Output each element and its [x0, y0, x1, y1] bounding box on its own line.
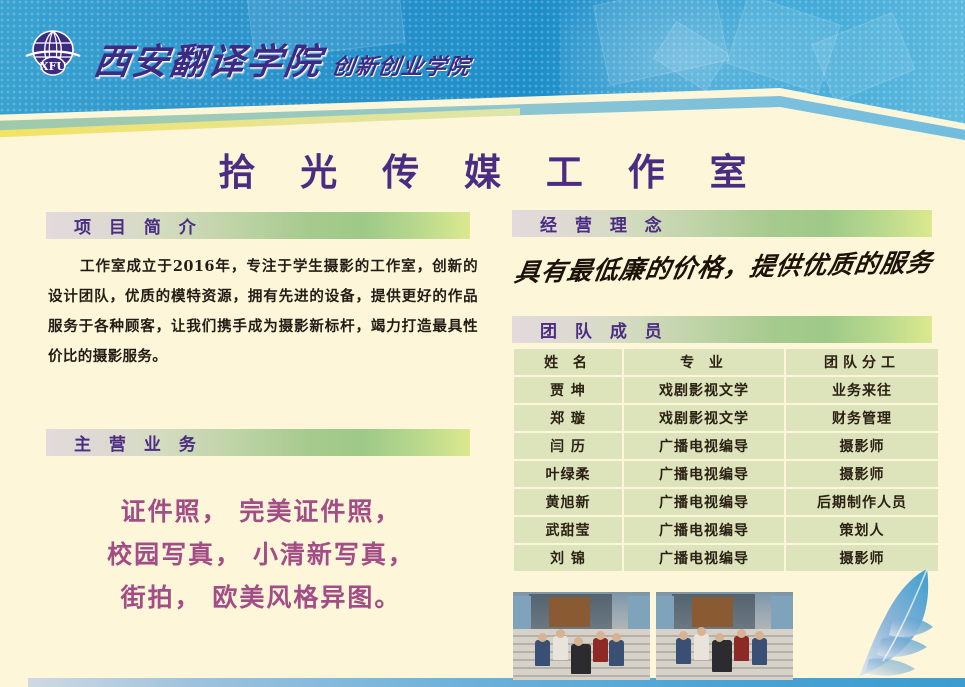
photo-person: [593, 638, 608, 662]
institution-subname: 创新创业学院: [330, 56, 471, 80]
photo-person: [734, 636, 749, 661]
services-list: 证件照， 完美证件照， 校园写真， 小清新写真， 街拍， 欧美风格异图。: [46, 490, 476, 619]
intro-paragraph: 工作室成立于2016年，专注于学生摄影的工作室，创新的设计团队，优质的模特资源，…: [48, 252, 478, 372]
cell-name: 贾 坤: [514, 377, 622, 403]
photo-person: [676, 638, 691, 664]
section-header-intro-label: 项 目 简 介: [46, 213, 202, 238]
photo-person: [712, 640, 732, 672]
service-line: 街拍， 欧美风格异图。: [46, 576, 476, 619]
cell-major: 广播电视编导: [624, 545, 784, 571]
team-photo: [656, 592, 793, 680]
photo-person: [752, 638, 767, 665]
table-header-row: 姓 名 专 业 团队分工: [514, 349, 938, 375]
section-header-idea: 经 营 理 念: [512, 210, 932, 237]
cell-name: 刘 锦: [514, 545, 622, 571]
table-row: 贾 坤 戏剧影视文学 业务来往: [514, 377, 938, 403]
photo-glass: [628, 596, 650, 631]
cell-name: 郑 璇: [514, 405, 622, 431]
table-row: 武甜莹 广播电视编导 策划人: [514, 517, 938, 543]
cell-major: 戏剧影视文学: [624, 405, 784, 431]
cell-major: 广播电视编导: [624, 489, 784, 515]
cell-role: 财务管理: [786, 405, 938, 431]
section-header-team: 团 队 成 员: [512, 316, 932, 343]
cell-name: 叶绿柔: [514, 461, 622, 487]
institution-name: 西安翻译学院: [91, 44, 324, 80]
globe-logo-icon: XFU: [22, 28, 84, 80]
cell-role: 摄影师: [786, 461, 938, 487]
section-header-team-label: 团 队 成 员: [512, 317, 668, 342]
poster-canvas: XFU 西安翻译学院 创新创业学院 拾 光 传 媒 工 作 室 项 目 简 介 …: [0, 0, 965, 687]
cell-major: 广播电视编导: [624, 433, 784, 459]
photo-door: [549, 597, 590, 627]
table-row: 郑 璇 戏剧影视文学 财务管理: [514, 405, 938, 431]
team-members-table: 姓 名 专 业 团队分工 贾 坤 戏剧影视文学 业务来往 郑 璇 戏剧影视文学 …: [512, 347, 940, 573]
section-header-business-label: 主 营 业 务: [46, 430, 202, 455]
cell-name: 武甜莹: [514, 517, 622, 543]
team-photo-gallery: [513, 592, 793, 680]
photo-glass: [771, 596, 793, 631]
column-header-major: 专 业: [624, 349, 784, 375]
column-header-role: 团队分工: [786, 349, 938, 375]
cell-major: 广播电视编导: [624, 461, 784, 487]
bottom-accent-bar: [28, 678, 965, 687]
team-photo: [513, 592, 650, 680]
section-header-idea-label: 经 营 理 念: [512, 211, 668, 236]
table-row: 闫 历 广播电视编导 摄影师: [514, 433, 938, 459]
photo-person: [535, 640, 550, 666]
service-line: 证件照， 完美证件照，: [46, 490, 476, 533]
cell-role: 摄影师: [786, 433, 938, 459]
cell-name: 闫 历: [514, 433, 622, 459]
section-header-business: 主 营 业 务: [46, 429, 470, 456]
section-header-intro: 项 目 简 介: [46, 212, 470, 239]
feather-decoration-icon: [853, 565, 957, 683]
photo-glass: [656, 596, 674, 631]
institution-logo-block: XFU 西安翻译学院 创新创业学院: [22, 28, 470, 80]
photo-person: [553, 636, 568, 660]
column-header-name: 姓 名: [514, 349, 622, 375]
table-row: 叶绿柔 广播电视编导 摄影师: [514, 461, 938, 487]
photo-person: [609, 640, 624, 666]
page-title: 拾 光 传 媒 工 作 室: [0, 142, 965, 196]
cell-major: 广播电视编导: [624, 517, 784, 543]
photo-door: [692, 597, 733, 627]
cell-role: 业务来往: [786, 377, 938, 403]
cell-name: 黄旭新: [514, 489, 622, 515]
photo-person: [694, 634, 709, 660]
photo-glass: [513, 596, 531, 631]
svg-text:XFU: XFU: [40, 60, 66, 73]
cell-major: 戏剧影视文学: [624, 377, 784, 403]
service-line: 校园写真， 小清新写真，: [46, 533, 476, 576]
cell-role: 后期制作人员: [786, 489, 938, 515]
table-row: 黄旭新 广播电视编导 后期制作人员: [514, 489, 938, 515]
photo-person: [571, 644, 591, 674]
cell-role: 策划人: [786, 517, 938, 543]
